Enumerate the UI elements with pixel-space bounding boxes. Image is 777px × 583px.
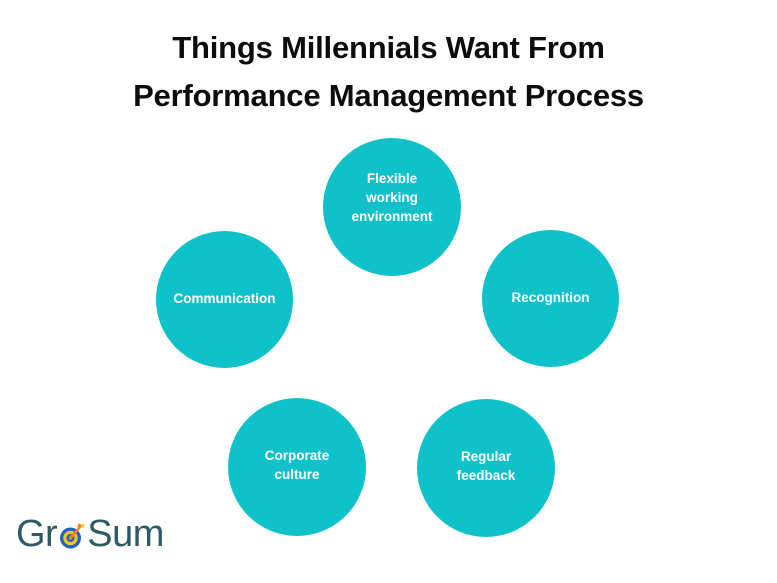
page-title: Things Millennials Want From Performance…	[0, 24, 777, 120]
node-label-corporate-culture: Corporate culture	[259, 446, 336, 484]
node-circle-recognition: Recognition	[482, 230, 619, 367]
grosum-logo: Gr Sum	[16, 508, 164, 560]
node-circle-corporate-culture: Corporate culture	[228, 398, 366, 536]
bullseye-target-icon	[57, 519, 87, 551]
node-label-recognition: Recognition	[506, 288, 596, 307]
node-circle-communication: Communication	[156, 231, 293, 368]
node-label-regular-feedback: Regular feedback	[451, 447, 522, 485]
node-circle-regular-feedback: Regular feedback	[417, 399, 555, 537]
title-line-1: Things Millennials Want From	[0, 24, 777, 72]
title-line-2: Performance Management Process	[0, 72, 777, 120]
node-circle-flexible-working-environment: Flexible working environment	[323, 138, 461, 276]
infographic-canvas: Things Millennials Want From Performance…	[0, 0, 777, 583]
logo-text-suffix: Sum	[87, 515, 164, 553]
logo-text-prefix: Gr	[16, 515, 57, 553]
node-label-flexible-working-environment: Flexible working environment	[345, 169, 438, 226]
node-label-communication: Communication	[167, 289, 281, 308]
